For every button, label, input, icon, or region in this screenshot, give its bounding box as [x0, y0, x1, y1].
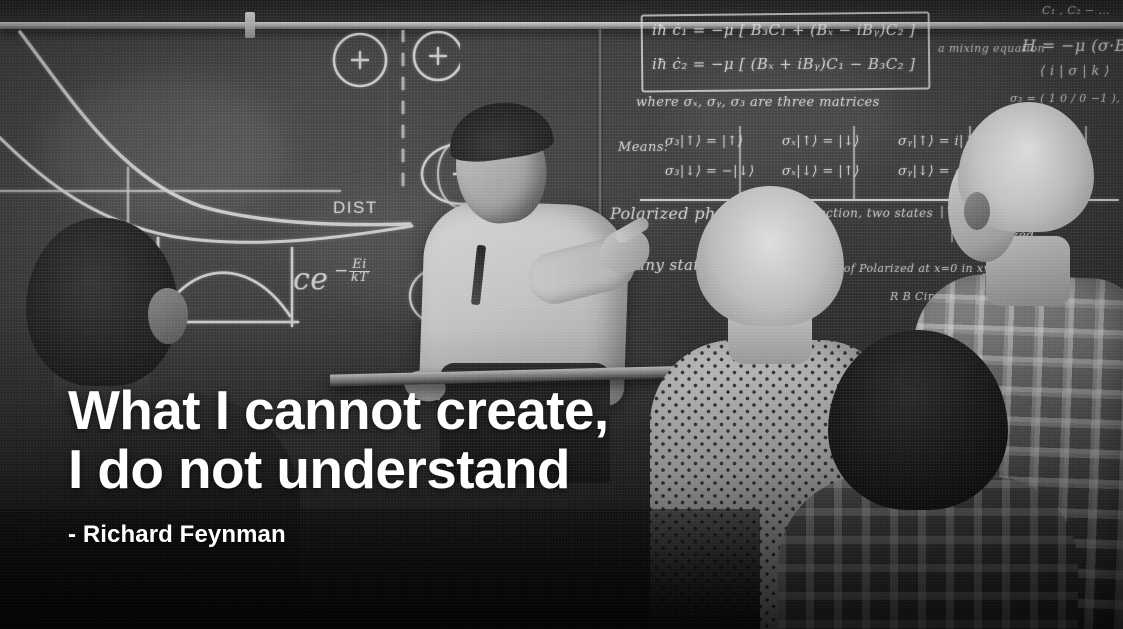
- student-polkadot-hair: [696, 186, 844, 326]
- boxed-equation-line2: iħ ċ₂ = −μ [ (Bₓ + iBᵧ)C₁ − B₃C₂ ]: [652, 55, 915, 73]
- hamiltonian-equation: H = −μ (σ·B): [1022, 36, 1123, 55]
- board-top-frame: [0, 0, 1123, 22]
- corner-note: C₁ , C₂ − ...: [1042, 4, 1110, 17]
- foreground-shadow: [0, 509, 760, 629]
- boxed-equation-line1: iħ ċ₁ = −μ [ B₃C₁ + (Bₓ − iBᵧ)C₂ ]: [652, 21, 915, 39]
- sigma-cell: σ₃|↓⟩ = −|↓⟩: [665, 164, 755, 179]
- dist-label: DIST: [333, 198, 378, 218]
- boltzmann-formula: ce − Ei kT: [293, 262, 370, 297]
- matrix-intro-text: where σₓ, σᵧ, σ₃ are three matrices: [636, 95, 880, 110]
- formula-sign: −: [334, 261, 349, 281]
- student-plaid-ear: [964, 192, 990, 230]
- atom-diagram: [330, 26, 460, 96]
- student-left-ear: [148, 288, 188, 344]
- sigma-cell: σ₃|↑⟩ = |↑⟩: [665, 134, 743, 149]
- sigma-cell: σₓ|↑⟩ = |↓⟩: [782, 134, 860, 149]
- formula-denominator: kT: [349, 272, 370, 284]
- quote-image: DIST ce − Ei kT iħ ċ₁ = −μ [ B₃C₁ + (Bₓ…: [0, 0, 1123, 629]
- student-dark-head: [828, 330, 1008, 510]
- lecturer-feynman: [400, 95, 650, 395]
- sigma-cell: σₓ|↓⟩ = |↑⟩: [782, 164, 860, 179]
- expectation-value: ⟨ i | σ | k ⟩: [1040, 64, 1110, 79]
- student-dark: [818, 330, 1048, 629]
